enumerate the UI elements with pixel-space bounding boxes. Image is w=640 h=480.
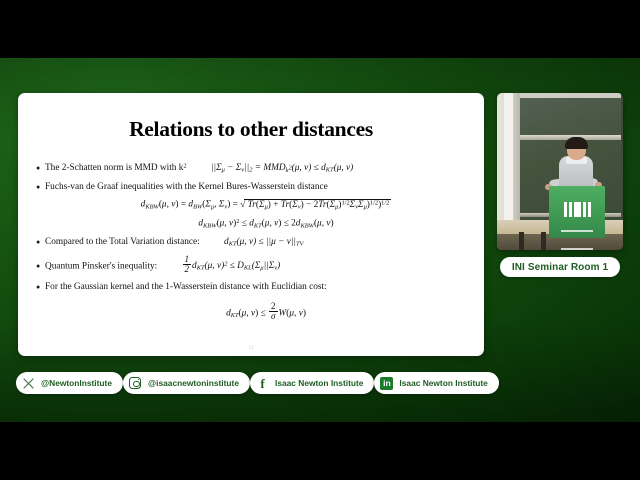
social-link-instagram[interactable]: @isaacnewtoninstitute <box>123 372 250 394</box>
bullet-marker: ● <box>36 181 45 191</box>
fraction-two-sigma: 2 σ <box>269 302 278 322</box>
social-handle-linkedin: Isaac Newton Institute <box>399 378 487 388</box>
social-link-x[interactable]: @NewtonInstitute <box>16 372 123 394</box>
speaker-hair <box>565 137 588 149</box>
ini-logo-subtitle <box>549 220 605 250</box>
instagram-icon <box>128 376 143 391</box>
letterbox-bottom <box>0 422 640 480</box>
equation-gaussian-wasserstein: dKT(μ, ν) ≤ 2 σ W(μ, ν) <box>36 302 470 322</box>
desk-leg <box>541 232 546 250</box>
linkedin-icon: in <box>379 376 394 391</box>
slide-card: Relations to other distances ● The 2-Sch… <box>18 93 484 356</box>
bullet-total-variation: ● Compared to the Total Variation distan… <box>36 236 470 249</box>
bullet-marker: ● <box>36 260 45 270</box>
podium <box>549 186 605 238</box>
equation-total-variation: dKT(μ, ν) ≤ ||μ − ν||TV <box>224 237 303 247</box>
equation-kbw-bounds: dKBW(μ, ν)2 ≤ dKT(μ, ν) ≤ 2dKBW(μ, ν) <box>36 218 470 229</box>
bullet-marker: ● <box>36 236 45 246</box>
presentation-scene: Relations to other distances ● The 2-Sch… <box>0 58 640 422</box>
facebook-icon: f <box>255 376 270 391</box>
slide-title: Relations to other distances <box>18 117 484 142</box>
bullet-quantum-pinsker: ● Quantum Pinsker's inequality: 1 2 dKT(… <box>36 255 470 275</box>
sup-2: 2 <box>183 162 186 169</box>
video-player-stage: Relations to other distances ● The 2-Sch… <box>0 0 640 480</box>
bullet-text-fuchs: Fuchs-van de Graaf inequalities with the… <box>45 181 470 193</box>
equation-schatten: ||Σμ − Σν||2 = MMDk2(μ, ν) ≤ dKT(μ, ν) <box>211 163 353 173</box>
bullet-schatten: ● The 2-Schatten norm is MMD with k2 ||Σ… <box>36 162 470 175</box>
bullet-marker: ● <box>36 162 45 172</box>
bullet-text-schatten: The 2-Schatten norm is MMD with k <box>45 163 183 173</box>
ini-logo-icon <box>549 202 605 217</box>
fraction-one-half: 1 2 <box>183 255 192 275</box>
bullet-fuchs-van-de-graaf: ● Fuchs-van de Graaf inequalities with t… <box>36 181 470 193</box>
bullet-text-total-variation: Compared to the Total Variation distance… <box>45 237 200 247</box>
slide-page-number: 12 <box>18 346 484 351</box>
social-links-bar: @NewtonInstitute @isaacnewtoninstitute f… <box>0 368 490 398</box>
equation-quantum-pinsker: 1 2 dKT(μ, ν)2 ≤ DKL(Σμ||Σν) <box>182 261 281 271</box>
chalkboard-top-trim <box>520 93 621 98</box>
social-handle-x: @NewtonInstitute <box>41 378 112 388</box>
bullet-text-quantum-pinsker: Quantum Pinsker's inequality: <box>45 261 157 271</box>
desk-leg <box>519 232 524 250</box>
social-handle-instagram: @isaacnewtoninstitute <box>148 378 239 388</box>
camera-panel[interactable]: INI Seminar Room 1 <box>497 93 623 293</box>
social-link-linkedin[interactable]: in Isaac Newton Institute <box>374 372 498 394</box>
bullet-gaussian-wasserstein: ● For the Gaussian kernel and the 1-Wass… <box>36 281 470 293</box>
bullet-text-gaussian: For the Gaussian kernel and the 1-Wasser… <box>45 281 470 293</box>
equation-kbw-definition: dKBW(μ, ν) = dBW(Σμ, Σν) = √ Tr(Σμ) + Tr… <box>36 199 470 210</box>
social-handle-facebook: Isaac Newton Institute <box>275 378 363 388</box>
x-twitter-icon <box>21 376 36 391</box>
camera-room-label-text: INI Seminar Room 1 <box>512 262 608 273</box>
bullet-marker: ● <box>36 281 45 291</box>
letterbox-top <box>0 0 640 58</box>
slide-body: ● The 2-Schatten norm is MMD with k2 ||Σ… <box>18 162 484 321</box>
social-link-facebook[interactable]: f Isaac Newton Institute <box>250 372 374 394</box>
camera-video-feed[interactable] <box>497 93 623 250</box>
camera-room-label: INI Seminar Room 1 <box>500 257 620 277</box>
